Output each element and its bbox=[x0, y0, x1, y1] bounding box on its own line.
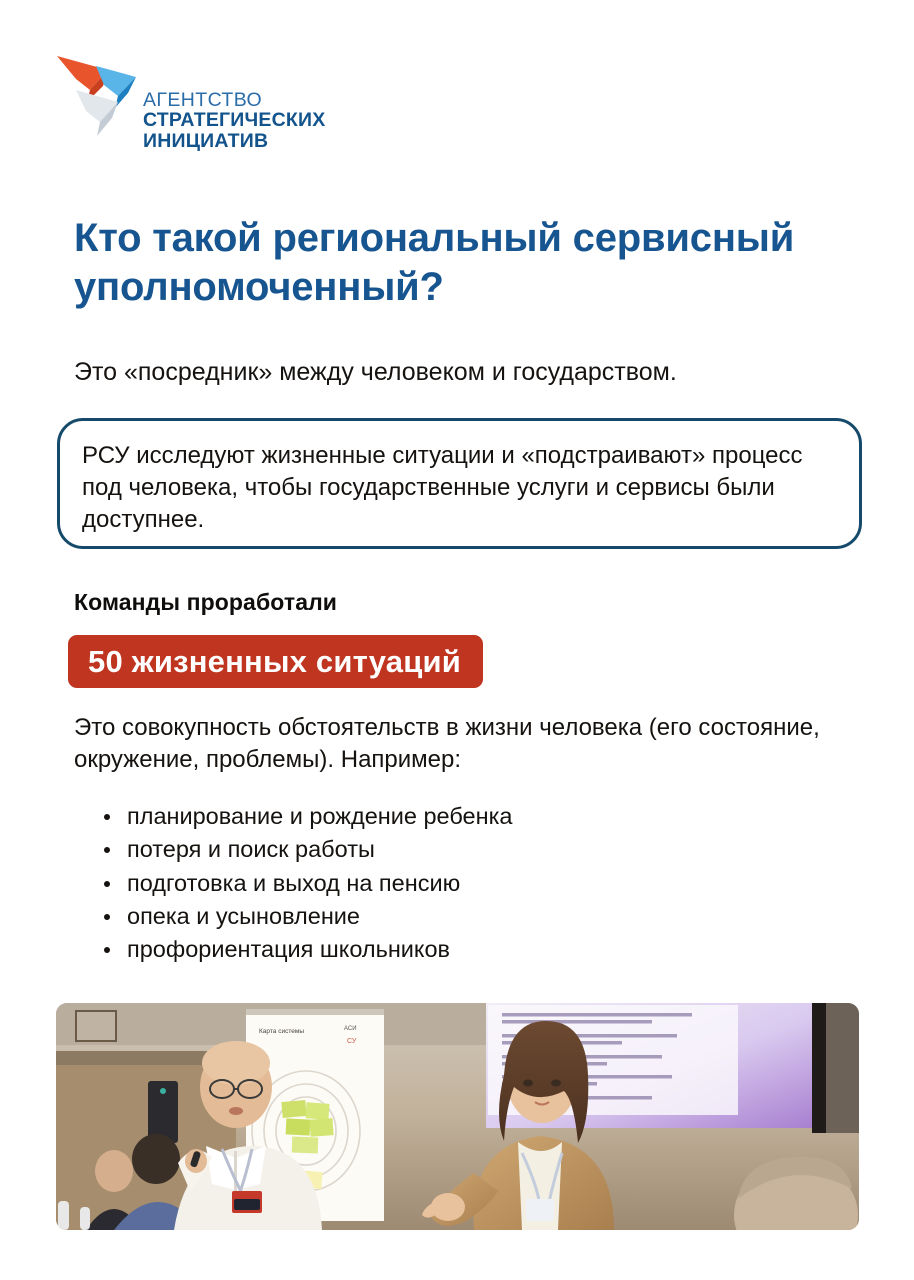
subhead-teams-worked: Команды проработали bbox=[74, 589, 337, 616]
svg-text:СУ: СУ bbox=[347, 1038, 357, 1045]
asi-arrow-logo-icon bbox=[56, 46, 138, 146]
life-situations-list: планирование и рождение ребенка потеря и… bbox=[100, 800, 800, 967]
list-item: подготовка и выход на пенсию bbox=[100, 867, 800, 900]
svg-text:Карта системы: Карта системы bbox=[259, 1028, 304, 1035]
list-item: планирование и рождение ребенка bbox=[100, 800, 800, 833]
callout-box: РСУ исследуют жизненные ситуации и «подс… bbox=[57, 418, 862, 549]
badge-50-situations: 50 жизненных ситуаций bbox=[68, 635, 483, 688]
body-paragraph: Это совокупность обстоятельств в жизни ч… bbox=[74, 712, 864, 775]
svg-text:АСИ: АСИ bbox=[344, 1026, 357, 1032]
list-item: потеря и поиск работы bbox=[100, 833, 800, 866]
workshop-photo: Карта системы АСИ СУ bbox=[56, 1003, 859, 1230]
lead-text: Это «посредник» между человеком и госуда… bbox=[74, 356, 864, 389]
asi-logo-text: АГЕНТСТВО СТРАТЕГИЧЕСКИХ ИНИЦИАТИВ bbox=[143, 90, 325, 151]
callout-text: РСУ исследуют жизненные ситуации и «подс… bbox=[82, 440, 835, 536]
logo-line-strategicheskih: СТРАТЕГИЧЕСКИХ bbox=[143, 110, 325, 130]
logo-line-agentstvo: АГЕНТСТВО bbox=[143, 90, 325, 110]
logo-line-initsiativ: ИНИЦИАТИВ bbox=[143, 131, 325, 151]
list-item: опека и усыновление bbox=[100, 900, 800, 933]
badge-label: 50 жизненных ситуаций bbox=[88, 646, 461, 677]
page-title: Кто такой региональный сервисный уполном… bbox=[74, 214, 814, 312]
asi-logo: АГЕНТСТВО СТРАТЕГИЧЕСКИХ ИНИЦИАТИВ bbox=[56, 46, 325, 151]
infographic-page: АГЕНТСТВО СТРАТЕГИЧЕСКИХ ИНИЦИАТИВ Кто т… bbox=[0, 0, 914, 1280]
list-item: профориентация школьников bbox=[100, 933, 800, 966]
